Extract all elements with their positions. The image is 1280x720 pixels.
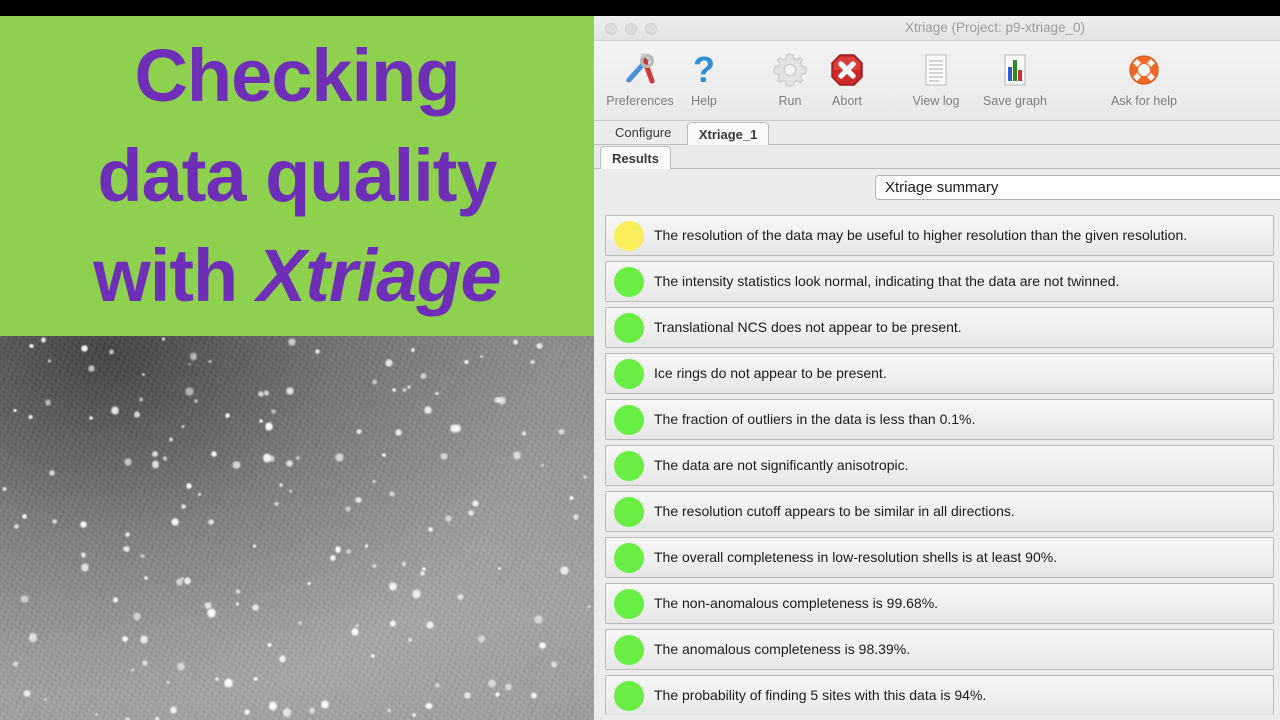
title-line-1: Checking [0,26,594,126]
diffraction-spot [330,555,336,561]
diffraction-spot [259,419,263,423]
diffraction-spots [0,336,594,720]
diffraction-spot [88,365,95,372]
diffraction-spot [407,385,411,389]
diffraction-spot [208,360,212,363]
toolbar-button-run[interactable]: Run [760,45,820,108]
status-ok-icon [614,497,644,527]
toolbar-button-ask-for-help[interactable]: Ask for help [1094,45,1194,108]
status-warning-icon [614,221,644,251]
diffraction-spot [80,521,87,528]
diffraction-spot [113,597,119,603]
screenshot-root: Checking data quality with Xtriage Xtria… [0,0,1280,720]
diffraction-spot [321,700,329,709]
diffraction-spot [365,544,368,548]
diffraction-spot [428,527,433,532]
diffraction-spot [139,397,144,403]
diffraction-spot [268,455,275,462]
diffraction-spot [288,338,296,346]
title-app-name: Xtriage [257,234,501,317]
diffraction-spot [573,514,579,520]
diffraction-spot [253,544,256,548]
diffraction-spot [498,567,502,570]
diffraction-spot [402,561,407,567]
diffraction-spot [355,624,359,628]
diffraction-spot [531,692,537,699]
diffraction-spot [124,458,132,467]
question-mark-icon: ? [674,45,734,93]
result-message: The intensity statistics look normal, in… [654,273,1265,289]
diffraction-spot [142,373,145,377]
diffraction-image [0,336,594,720]
diffraction-spot [134,411,140,417]
diffraction-spot [23,690,31,697]
diffraction-spot [225,413,230,418]
diffraction-spot [522,431,526,435]
diffraction-spot [435,683,440,688]
toolbar-label-run: Run [760,94,820,108]
toolbar-label-abort: Abort [814,94,880,108]
result-message: The anomalous completeness is 98.39%. [654,641,1265,657]
toolbar-button-preferences[interactable]: Preferences [597,45,683,108]
diffraction-spot [315,349,320,354]
tab-xtriage-1[interactable]: Xtriage_1 [687,122,770,146]
diffraction-spot [142,660,147,666]
diffraction-spot [267,643,272,647]
result-message: Ice rings do not appear to be present. [654,365,1265,381]
title-card: Checking data quality with Xtriage [0,16,594,336]
diffraction-spot [387,708,391,713]
result-row[interactable]: Ice rings do not appear to be present. [605,353,1274,394]
diffraction-spot [2,487,7,492]
diffraction-spot [215,677,220,681]
xtriage-app-window: Xtriage (Project: p9-xtriage_0) Preferen… [594,16,1280,720]
result-row[interactable]: The probability of finding 5 sites with … [605,675,1274,715]
bar-chart-icon [972,45,1058,93]
diffraction-spot [22,514,28,519]
diffraction-spot [390,620,396,626]
title-with-word: with [93,234,257,317]
status-ok-icon [614,451,644,481]
diffraction-spot [13,409,16,412]
diffraction-spot [44,698,47,701]
diffraction-spot [95,713,98,716]
diffraction-spot [181,504,186,509]
diffraction-spot [140,635,148,644]
selector-strip: Xtriage summary [594,169,1280,207]
diffraction-spot [389,582,397,591]
diffraction-spot [253,677,257,682]
diffraction-spot [123,546,129,552]
diffraction-spot [411,348,415,353]
diffraction-spot [345,506,351,512]
diffraction-spot [52,519,57,523]
diffraction-spot [236,602,239,605]
diffraction-spot [583,475,587,479]
diffraction-spot [81,552,86,558]
diffraction-spot [198,493,201,496]
diffraction-spot [211,451,217,457]
status-ok-icon [614,359,644,389]
diffraction-spot [309,707,316,714]
diffraction-spot [513,339,518,345]
diffraction-spot [152,451,158,457]
tools-icon [597,45,683,93]
diffraction-spot [389,491,395,497]
diffraction-spot [335,453,343,462]
diffraction-spot [424,406,432,414]
diffraction-spot [478,635,485,642]
result-row[interactable]: The anomalous completeness is 98.39%. [605,629,1274,670]
diffraction-spot [558,429,565,436]
toolbar-label-preferences: Preferences [597,94,683,108]
diffraction-spot [420,571,425,576]
diffraction-spot [208,519,214,525]
result-message: The fraction of outliers in the data is … [654,411,1265,427]
diffraction-spot [111,406,120,415]
window-titlebar: Xtriage (Project: p9-xtriage_0) [594,16,1280,41]
diffraction-spot [13,661,19,667]
diffraction-spot [560,566,569,576]
diffraction-spot [45,399,51,406]
diffraction-spot [181,425,185,429]
result-message: Translational NCS does not appear to be … [654,319,1265,335]
status-ok-icon [614,589,644,619]
result-row[interactable]: The intensity statistics look normal, in… [605,261,1274,302]
diffraction-spot [252,604,259,612]
result-row[interactable]: Translational NCS does not appear to be … [605,307,1274,348]
diffraction-spot [166,681,169,684]
diffraction-spot [232,461,241,469]
svg-text:?: ? [693,50,715,90]
diffraction-spot [140,554,145,558]
diffraction-spot [539,642,546,649]
diffraction-spot [296,456,300,460]
status-ok-icon [614,267,644,297]
result-row[interactable]: The resolution of the data may be useful… [605,215,1274,256]
diffraction-spot [488,679,496,688]
window-title: Xtriage (Project: p9-xtriage_0) [594,20,1280,35]
result-message: The data are not significantly anisotrop… [654,457,1265,473]
tab-configure[interactable]: Configure [604,121,682,145]
toolbar-button-abort[interactable]: Abort [814,45,880,108]
toolbar-label-ask-for-help: Ask for help [1094,94,1194,108]
title-line-2: data quality [0,126,594,226]
diffraction-spot [335,546,341,553]
status-ok-icon [614,543,644,573]
diffraction-spot [392,388,396,392]
diffraction-spot [464,360,469,364]
result-row[interactable]: The overall completeness in low-resoluti… [605,537,1274,578]
diffraction-spot [372,379,378,385]
diffraction-spot [162,337,166,341]
diffraction-spot [28,415,33,420]
diffraction-spot [495,692,500,697]
diffraction-spot [472,500,480,507]
diffraction-spot [283,707,292,718]
document-icon [899,45,973,93]
diffraction-spot [131,668,134,672]
secondary-tab-bar: Results [594,145,1280,169]
tab-results[interactable]: Results [600,146,671,170]
toolbar-button-save-graph[interactable]: Save graph [972,45,1058,108]
diffraction-spot [194,399,198,403]
diffraction-spot [307,582,311,585]
diffraction-spot [534,615,543,624]
diffraction-spot [513,451,521,460]
diffraction-spot [351,628,359,637]
status-ok-icon [614,681,644,711]
diffraction-spot [29,632,38,642]
diffraction-spot [81,345,89,352]
title-line-3: with Xtriage [0,226,594,326]
diffraction-spot [188,363,191,366]
diffraction-spot [244,709,250,715]
diffraction-spot [279,655,287,663]
diffraction-spot [420,373,427,380]
diffraction-spot [372,480,376,483]
diffraction-spot [163,456,167,461]
diffraction-spot [224,678,233,688]
diffraction-spot [371,654,375,658]
result-row[interactable]: The fraction of outliers in the data is … [605,399,1274,440]
results-list[interactable]: The resolution of the data may be useful… [594,210,1280,715]
diffraction-spot [298,621,302,625]
diffraction-spot [265,422,274,431]
summary-dropdown[interactable]: Xtriage summary [875,175,1280,200]
diffraction-spot [171,518,180,527]
diffraction-spot [279,483,283,488]
diffraction-spot [435,392,438,395]
result-row[interactable]: The non-anomalous completeness is 99.68%… [605,583,1274,624]
diffraction-spot [289,489,292,493]
diffraction-spot [372,564,377,569]
diffraction-spot [505,683,512,691]
diffraction-spot [426,621,434,629]
diffraction-spot [152,460,160,469]
diffraction-spot [346,549,351,554]
diffraction-spot [498,396,506,405]
primary-tab-bar: Configure Xtriage_1 [594,121,1280,145]
result-message: The resolution of the data may be useful… [654,227,1265,243]
toolbar-label-save-graph: Save graph [972,94,1058,108]
diffraction-spot [49,470,55,476]
result-message: The probability of finding 5 sites with … [654,687,1265,703]
diffraction-spot [569,496,574,500]
diffraction-spot [236,589,241,594]
diffraction-spot [109,349,115,355]
diffraction-spot [457,594,464,600]
result-message: The non-anomalous completeness is 99.68%… [654,595,1265,611]
diffraction-spot [541,464,544,468]
toolbar-label-view-log: View log [899,94,973,108]
diffraction-spot [176,578,183,586]
diffraction-spot [271,409,276,414]
main-toolbar: Preferences ? Help [594,41,1280,121]
diffraction-spot [186,483,192,489]
diffraction-spot [286,387,294,395]
diffraction-spot [355,497,362,503]
diffraction-spot [440,453,448,461]
diffraction-spot [29,344,34,349]
diffraction-spot [412,589,421,599]
diffraction-spot [184,577,192,586]
diffraction-spot [480,355,484,358]
diffraction-spot [464,692,470,699]
diffraction-spot [133,612,141,621]
diffraction-spot [125,532,131,537]
gear-icon [760,45,820,93]
diffraction-spot [169,437,173,442]
stop-x-icon [814,45,880,93]
result-row[interactable]: The resolution cutoff appears to be simi… [605,491,1274,532]
diffraction-spot [468,510,474,516]
diffraction-spot [356,429,362,434]
diffraction-spot [89,416,93,420]
diffraction-spot [41,337,46,343]
status-ok-icon [614,405,644,435]
diffraction-spot [48,359,51,363]
diffraction-spot [207,608,216,618]
status-ok-icon [614,313,644,343]
diffraction-spot [144,576,148,580]
diffraction-spot [536,343,543,349]
diffraction-spot [170,706,177,714]
diffraction-spot [122,636,128,642]
diffraction-spot [155,716,160,720]
result-message: The overall completeness in low-resoluti… [654,549,1265,565]
diffraction-spot [286,460,293,467]
diffraction-spot [454,424,462,433]
diffraction-spot [177,662,184,670]
diffraction-spot [264,390,269,396]
slide-panel: Checking data quality with Xtriage [0,16,594,720]
toolbar-label-help: Help [674,94,734,108]
diffraction-spot [408,638,412,642]
result-message: The resolution cutoff appears to be simi… [654,503,1265,519]
diffraction-spot [587,605,591,609]
diffraction-spot [551,661,557,668]
page-title: Checking data quality with Xtriage [0,26,594,326]
diffraction-spot [190,352,198,361]
diffraction-spot [425,703,432,709]
diffraction-spot [385,359,393,368]
diffraction-spot [445,515,452,522]
diffraction-spot [422,567,426,571]
life-ring-icon [1094,45,1194,93]
diffraction-spot [185,387,194,397]
diffraction-spot [14,524,20,529]
diffraction-spot [395,429,402,436]
diffraction-spot [20,595,28,603]
diffraction-spot [269,701,277,710]
status-ok-icon [614,635,644,665]
diffraction-spot [274,502,279,507]
diffraction-spot [382,453,387,457]
diffraction-spot [412,713,416,718]
toolbar-button-help[interactable]: ? Help [674,45,734,108]
toolbar-button-view-log[interactable]: View log [899,45,973,108]
diffraction-spot [81,563,89,572]
result-row[interactable]: The data are not significantly anisotrop… [605,445,1274,486]
diffraction-spot [530,360,535,365]
